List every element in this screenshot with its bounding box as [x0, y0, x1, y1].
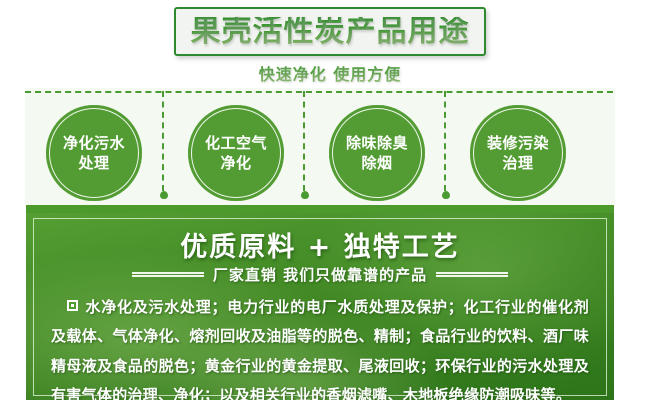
connector-drop-line-1	[162, 91, 164, 191]
banner-subheadline: 厂家直销 我们只做靠谱的产品	[213, 264, 427, 285]
connector-drop-line-3	[444, 91, 446, 191]
connector-drop-tip-1	[160, 191, 168, 199]
feature-circle-label-4: 装修污染 治理	[487, 133, 549, 174]
features-panel: 净化污水 处理 化工空气 净化 除味除臭 除烟 装修污染 治理	[25, 88, 615, 205]
banner-top-bar	[26, 205, 614, 213]
connector-drop-tip-2	[301, 191, 309, 199]
page-title-box: 果壳活性炭产品用途	[174, 7, 486, 56]
feature-circle-label-3: 除味除臭 除烟	[346, 133, 408, 174]
feature-circle-label-1: 净化污水 处理	[63, 133, 125, 174]
connector-drop-tip-3	[442, 191, 450, 199]
banner-subheadline-row: 厂家直销 我们只做靠谱的产品	[26, 264, 614, 285]
feature-circle-label-2: 化工空气 净化	[205, 133, 267, 174]
banner-body-text: 水净化及污水处理；电力行业的电厂水质处理及保护；化工行业的催化剂及载体、气体净化…	[51, 298, 589, 400]
header-section: 果壳活性炭产品用途 快速净化 使用方便	[0, 0, 660, 88]
feature-circle-2[interactable]: 化工空气 净化	[188, 105, 284, 201]
connector-horizontal-line	[25, 91, 613, 93]
promo-banner: 优质原料 + 独特工艺 厂家直销 我们只做靠谱的产品 水净化及污水处理；电力行业…	[26, 205, 614, 400]
banner-headline: 优质原料 + 独特工艺	[26, 225, 614, 264]
page-title: 果壳活性炭产品用途	[191, 17, 470, 47]
square-bullet-icon	[67, 300, 78, 311]
feature-circle-4[interactable]: 装修污染 治理	[470, 105, 566, 201]
banner-body-paragraph: 水净化及污水处理；电力行业的电厂水质处理及保护；化工行业的催化剂及载体、气体净化…	[51, 293, 589, 400]
feature-circle-1[interactable]: 净化污水 处理	[46, 105, 142, 201]
decorative-rule-right	[436, 272, 508, 277]
feature-circle-3[interactable]: 除味除臭 除烟	[329, 105, 425, 201]
page-subtitle: 快速净化 使用方便	[0, 61, 660, 85]
decorative-rule-left	[132, 272, 204, 277]
connector-drop-line-2	[303, 91, 305, 191]
